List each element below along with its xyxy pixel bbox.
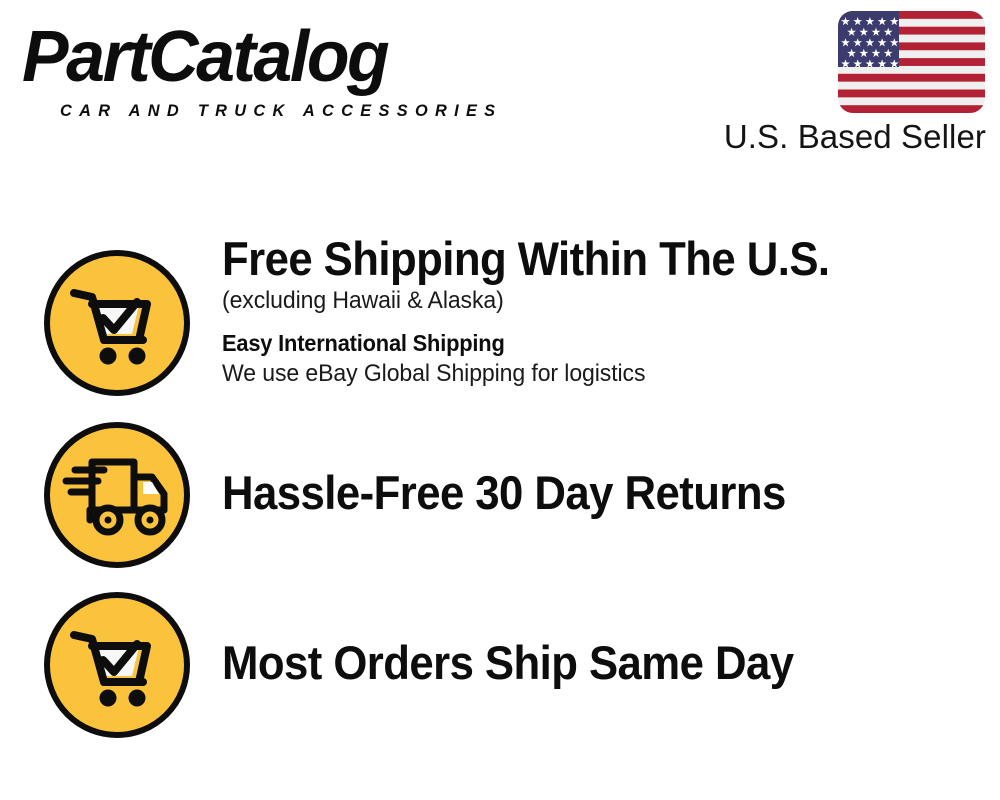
feature-headline: Most Orders Ship Same Day: [222, 637, 910, 689]
feature-text-same-day: Most Orders Ship Same Day: [222, 637, 962, 689]
banner-header: PartCatalog CAR AND TRUCK ACCESSORIES: [0, 0, 1000, 175]
feature-subline-secondary: We use eBay Global Shipping for logistic…: [222, 358, 932, 389]
shopping-cart-check-icon: [42, 590, 192, 740]
delivery-truck-icon: [42, 420, 192, 570]
brand-logo: PartCatalog CAR AND TRUCK ACCESSORIES: [22, 20, 492, 115]
feature-text-returns: Hassle-Free 30 Day Returns: [222, 467, 962, 519]
feature-row-same-day: Most Orders Ship Same Day: [0, 590, 1000, 742]
brand-tagline: CAR AND TRUCK ACCESSORIES: [60, 102, 502, 121]
us-based-seller-label: U.S. Based Seller: [724, 118, 986, 156]
feature-headline: Free Shipping Within The U.S.: [222, 233, 910, 285]
shipping-info-banner: PartCatalog CAR AND TRUCK ACCESSORIES: [0, 0, 1000, 800]
us-flag-icon: [838, 11, 985, 113]
brand-wordmark: PartCatalog: [22, 20, 387, 94]
shopping-cart-check-icon: [42, 248, 192, 398]
feature-text-free-shipping: Free Shipping Within The U.S. (excluding…: [222, 233, 962, 389]
feature-headline: Hassle-Free 30 Day Returns: [222, 467, 910, 519]
feature-subline: (excluding Hawaii & Alaska): [222, 285, 932, 316]
feature-row-free-shipping: Free Shipping Within The U.S. (excluding…: [0, 248, 1000, 408]
feature-row-returns: Hassle-Free 30 Day Returns: [0, 420, 1000, 572]
feature-subline-strong: Easy International Shipping: [222, 328, 925, 358]
